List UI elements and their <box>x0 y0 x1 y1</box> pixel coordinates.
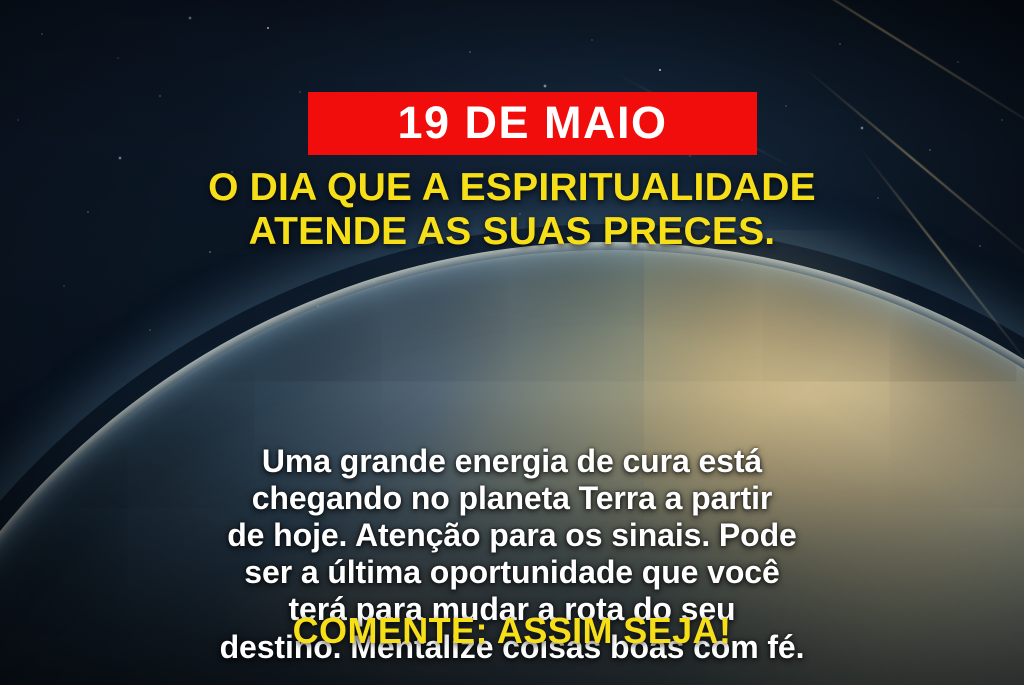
body-line-3: de hoje. Atenção para os sinais. Pode <box>50 517 974 554</box>
headline-line-2: ATENDE AS SUAS PRECES. <box>0 210 1024 254</box>
date-banner: 19 DE MAIO <box>308 92 757 155</box>
call-to-action-text: COMENTE: ASSIM SEJA! <box>0 611 1024 651</box>
poster-canvas: 19 DE MAIO O DIA QUE A ESPIRITUALIDADE A… <box>0 0 1024 685</box>
body-line-1: Uma grande energia de cura está <box>50 443 974 480</box>
date-banner-label: 19 DE MAIO <box>397 100 667 145</box>
poster-content: 19 DE MAIO O DIA QUE A ESPIRITUALIDADE A… <box>0 0 1024 685</box>
body-line-4: ser a última oportunidade que você <box>50 554 974 591</box>
headline-line-1: O DIA QUE A ESPIRITUALIDADE <box>0 166 1024 210</box>
headline: O DIA QUE A ESPIRITUALIDADE ATENDE AS SU… <box>0 166 1024 253</box>
body-line-2: chegando no planeta Terra a partir <box>50 480 974 517</box>
